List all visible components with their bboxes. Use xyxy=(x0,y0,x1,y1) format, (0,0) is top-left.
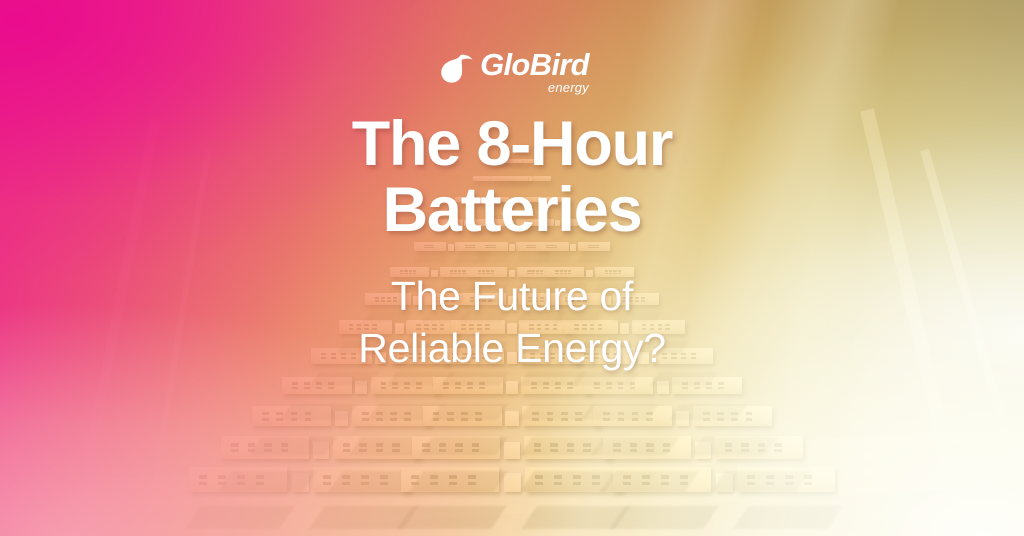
logo-name: GloBird xyxy=(480,49,589,80)
subtitle-line-1: The Future of xyxy=(0,270,1024,322)
subtitle-line-2: Reliable Energy? xyxy=(0,322,1024,374)
hero-banner: GloBird energy The 8-Hour Batteries The … xyxy=(0,0,1024,536)
title-line-1: The 8-Hour xyxy=(0,112,1024,178)
page-subtitle: The Future of Reliable Energy? xyxy=(0,270,1024,374)
logo-wordmark: GloBird energy xyxy=(480,49,589,94)
globird-leaf-bird-icon xyxy=(435,48,475,88)
page-title: The 8-Hour Batteries xyxy=(0,112,1024,243)
globird-logo: GloBird energy xyxy=(0,40,1024,102)
banner-content: GloBird energy The 8-Hour Batteries The … xyxy=(0,0,1024,536)
title-line-2: Batteries xyxy=(0,178,1024,244)
logo-tagline: energy xyxy=(548,81,589,94)
